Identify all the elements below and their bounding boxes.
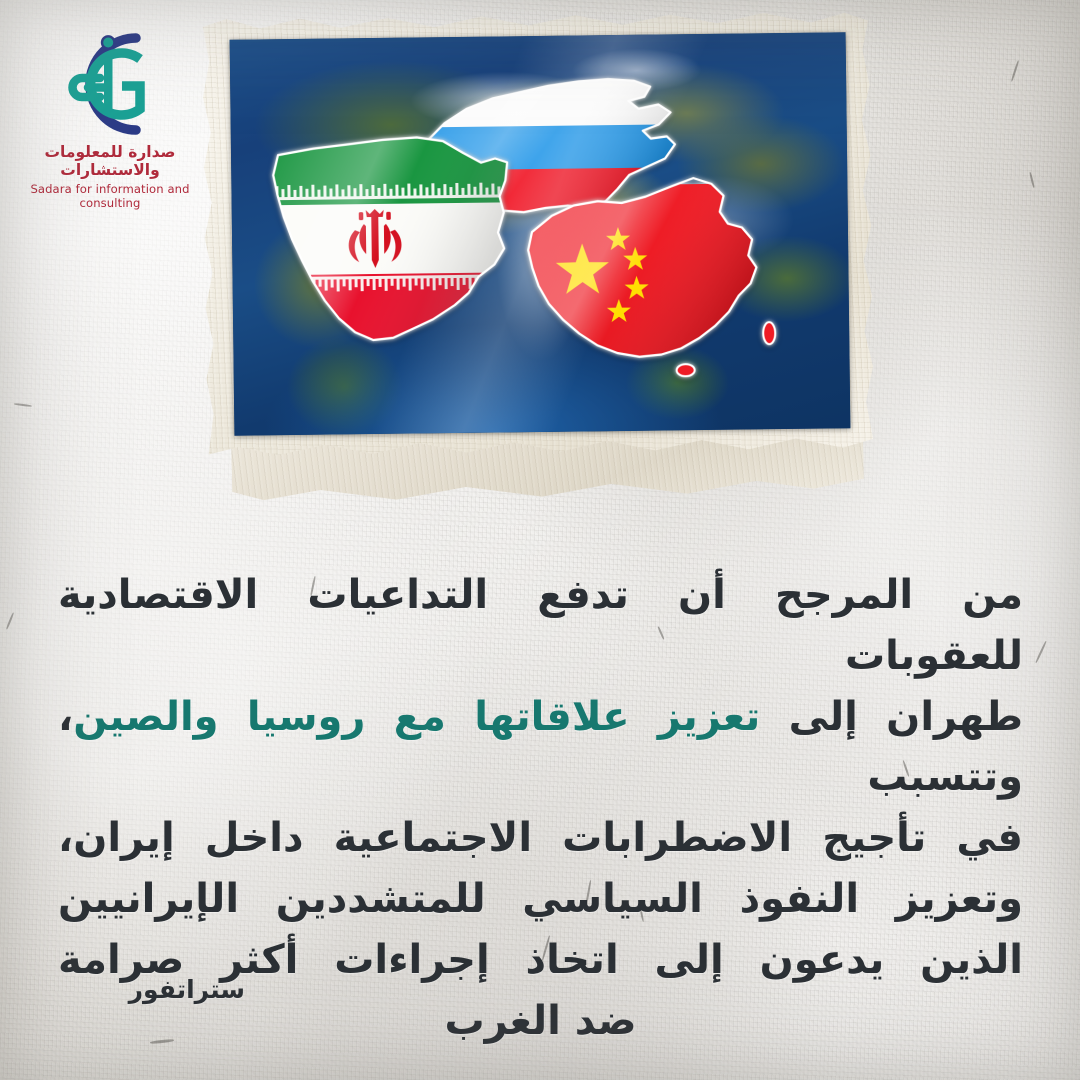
paper-scratch	[1011, 60, 1020, 82]
article-text: ضد الغرب	[444, 998, 636, 1044]
satellite-map-photo	[230, 32, 851, 435]
brand-name-english: Sadara for information and consulting	[10, 182, 210, 210]
brand-name-arabic: صدارة للمعلومات والاستشارات	[10, 144, 210, 180]
photo-gloss	[230, 32, 851, 435]
poster-canvas: صدارة للمعلومات والاستشارات Sadara for i…	[0, 0, 1080, 1080]
article-text: من المرجح أن تدفع التداعيات الاقتصادية ل…	[58, 572, 1023, 679]
photo-frame	[199, 10, 876, 458]
article-text: وتعزيز النفوذ السياسي للمتشددين الإيراني…	[58, 876, 1023, 922]
article-line: طهران إلى تعزيز علاقاتها مع روسيا والصين…	[58, 687, 1023, 809]
article-line: وتعزيز النفوذ السياسي للمتشددين الإيراني…	[58, 869, 1023, 930]
article-line: من المرجح أن تدفع التداعيات الاقتصادية ل…	[58, 565, 1023, 687]
paper-scratch	[14, 403, 32, 407]
paper-scratch	[1035, 641, 1047, 664]
paper-scratch	[6, 612, 15, 629]
article-text: طهران إلى	[760, 694, 1023, 740]
article-line: في تأجيج الاضطرابات الاجتماعية داخل إيرا…	[58, 808, 1023, 869]
source-attribution: ستراتفور	[129, 975, 245, 1004]
paper-scratch	[1029, 172, 1035, 188]
photo-collage	[196, 8, 896, 528]
highlighted-phrase: تعزيز علاقاتها مع روسيا والصين	[73, 694, 760, 740]
article-text: في تأجيج الاضطرابات الاجتماعية داخل إيرا…	[58, 815, 1023, 861]
sadara-cig-monogram-icon	[44, 26, 176, 142]
brand-logo: صدارة للمعلومات والاستشارات Sadara for i…	[10, 26, 210, 210]
